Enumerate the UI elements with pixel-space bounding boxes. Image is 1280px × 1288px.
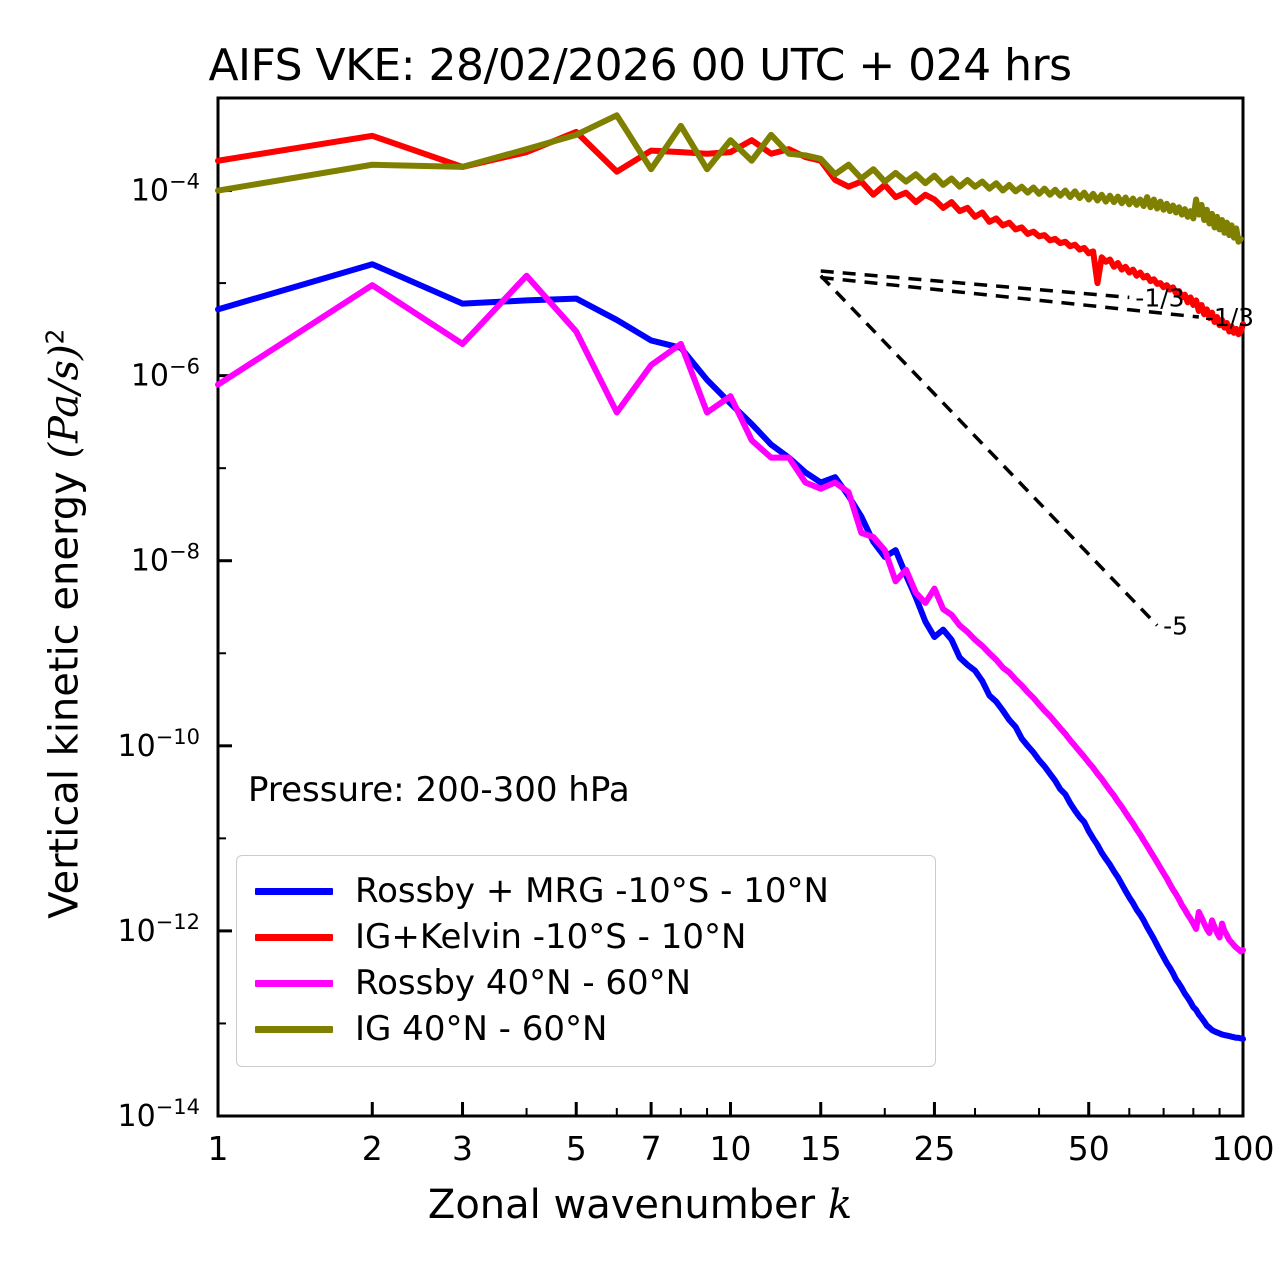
legend-swatch-rossby-mrg xyxy=(255,888,333,895)
x-tick-label: 7 xyxy=(641,1129,662,1168)
legend-swatch-rossby-nh xyxy=(255,980,333,987)
x-tick-label: 25 xyxy=(913,1129,955,1168)
legend-item[interactable]: Rossby + MRG -10°S - 10°N xyxy=(255,868,917,914)
legend-label: Rossby 40°N - 60°N xyxy=(355,963,691,1003)
x-tick-label: 2 xyxy=(362,1129,383,1168)
y-tick-label: 10−12 xyxy=(117,910,200,949)
legend-swatch-ig-kelvin xyxy=(255,934,333,941)
reference-line-label: -5 xyxy=(1163,611,1188,640)
plot-canvas: 123571015255010010−1410−1210−1010−810−61… xyxy=(0,0,1280,1288)
y-tick-label: 10−6 xyxy=(131,355,200,394)
x-tick-label: 100 xyxy=(1212,1129,1275,1168)
x-axis-label: Zonal wavenumber k xyxy=(0,1182,1280,1228)
legend-item[interactable]: IG+Kelvin -10°S - 10°N xyxy=(255,914,917,960)
legend-item[interactable]: Rossby 40°N - 60°N xyxy=(255,960,917,1006)
x-tick-label: 3 xyxy=(452,1129,473,1168)
y-tick-label: 10−10 xyxy=(117,725,200,764)
reference-line-label: -1/3 xyxy=(1135,283,1184,312)
y-tick-label: 10−8 xyxy=(131,540,200,579)
x-tick-label: 10 xyxy=(710,1129,752,1168)
reference-line-label: -1/3 xyxy=(1205,303,1254,332)
chart-root: AIFS VKE: 28/02/2026 00 UTC + 024 hrs 12… xyxy=(0,0,1280,1288)
x-tick-label: 1 xyxy=(208,1129,229,1168)
y-tick-label: 10−14 xyxy=(117,1095,200,1134)
series-line-rossby-40-n-60-n xyxy=(218,276,1243,952)
reference-line-neg5 xyxy=(821,276,1157,626)
legend-label: IG+Kelvin -10°S - 10°N xyxy=(355,917,746,957)
legend-item[interactable]: IG 40°N - 60°N xyxy=(255,1006,917,1052)
legend-swatch-ig-nh xyxy=(255,1026,333,1033)
legend-label: Rossby + MRG -10°S - 10°N xyxy=(355,871,829,911)
y-axis-label: Vertical kinetic energy (Pa/s)2 xyxy=(40,244,87,1004)
y-tick-label: 10−4 xyxy=(131,170,200,209)
legend-label: IG 40°N - 60°N xyxy=(355,1009,607,1049)
pressure-annotation: Pressure: 200-300 hPa xyxy=(248,770,630,810)
x-tick-label: 15 xyxy=(800,1129,842,1168)
legend: Rossby + MRG -10°S - 10°N IG+Kelvin -10°… xyxy=(236,855,936,1067)
x-tick-label: 5 xyxy=(566,1129,587,1168)
x-tick-label: 50 xyxy=(1068,1129,1110,1168)
